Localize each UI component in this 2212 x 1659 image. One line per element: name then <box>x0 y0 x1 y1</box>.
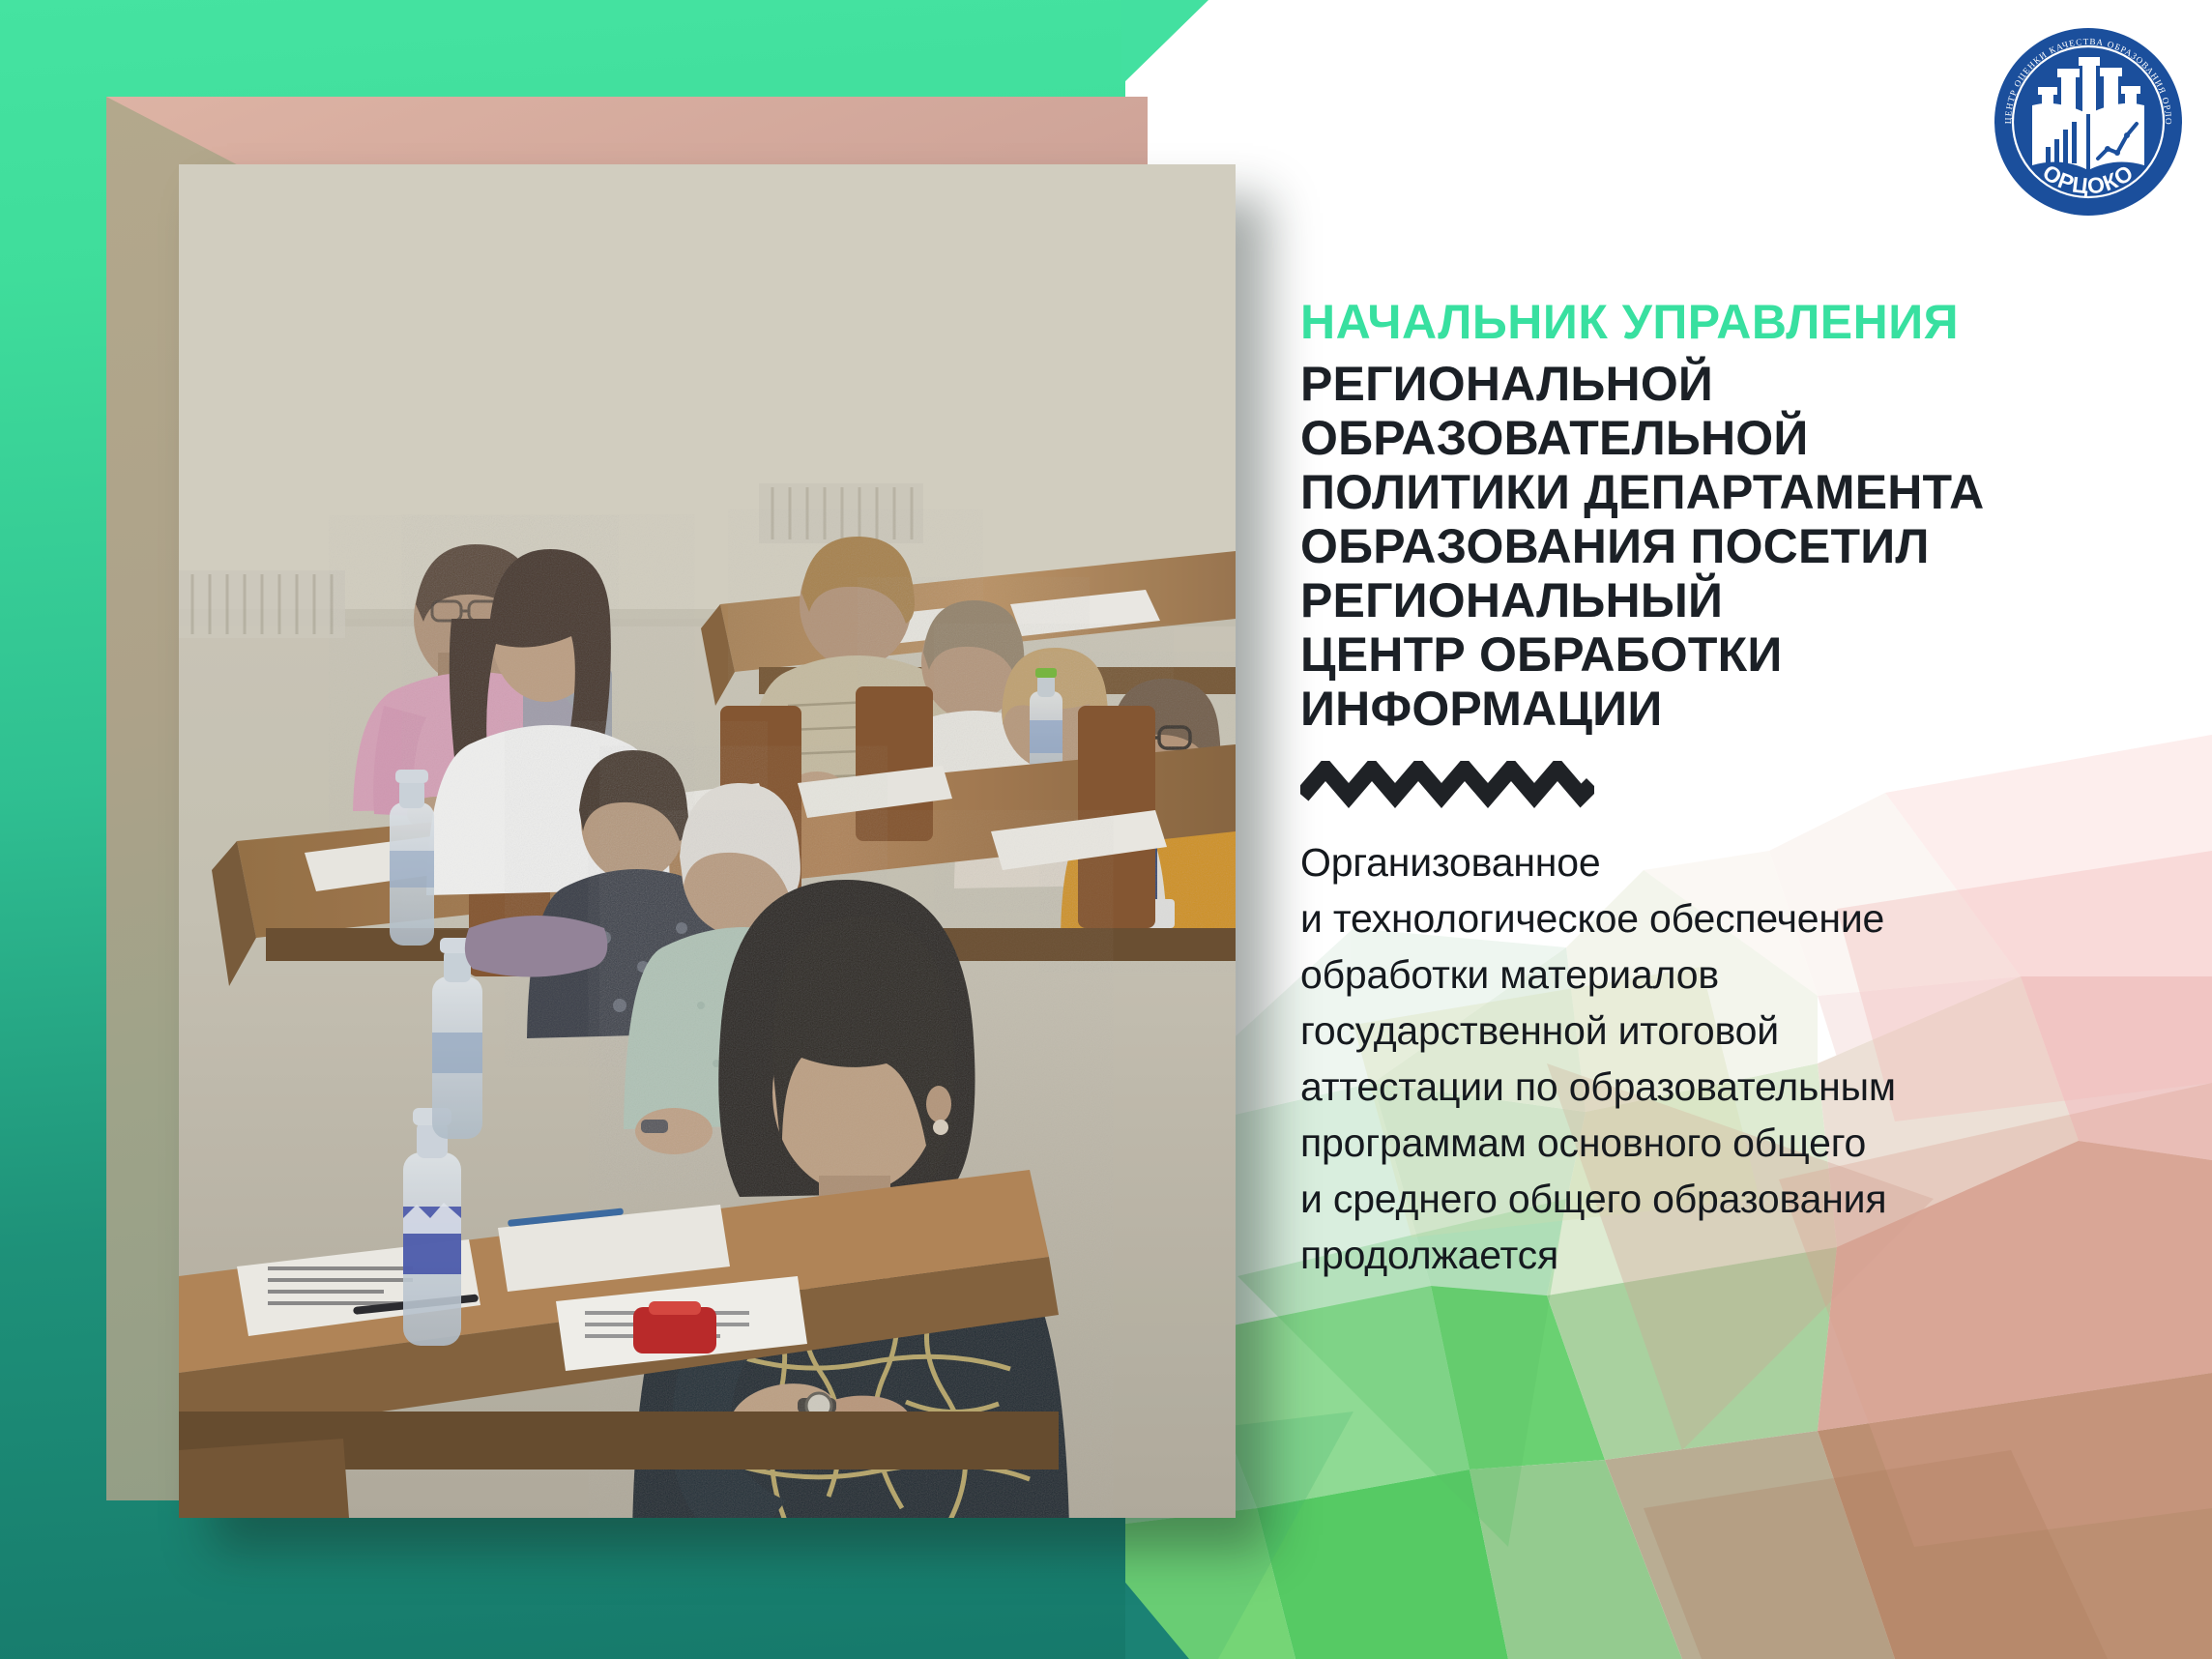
body-paragraph: Организованное и технологическое обеспеч… <box>1300 834 2103 1283</box>
meeting-photo-illustration <box>179 164 1236 1518</box>
headline-line-4: ОБРАЗОВАНИЯ ПОСЕТИЛ <box>1300 519 2103 573</box>
body-line-7: и среднего общего образования <box>1300 1171 2103 1227</box>
orcoko-logo: РЕГИОНАЛЬНЫЙ ЦЕНТР ОЦЕНКИ КАЧЕСТВА ОБРАЗ… <box>1988 21 2189 222</box>
body-line-4: государственной итоговой <box>1300 1003 2103 1059</box>
headline-line-5: РЕГИОНАЛЬНЫЙ <box>1300 573 2103 627</box>
body-line-3: обработки материалов <box>1300 946 2103 1003</box>
slide-canvas: РЕГИОНАЛЬНЫЙ ЦЕНТР ОЦЕНКИ КАЧЕСТВА ОБРАЗ… <box>0 0 2212 1659</box>
headline-line-1: РЕГИОНАЛЬНОЙ <box>1300 357 2103 411</box>
zigzag-divider <box>1300 761 1594 811</box>
body-line-8: продолжается <box>1300 1227 2103 1283</box>
body-line-1: Организованное <box>1300 834 2103 890</box>
page-title: РЕГИОНАЛЬНОЙ ОБРАЗОВАТЕЛЬНОЙ ПОЛИТИКИ ДЕ… <box>1300 357 2103 736</box>
text-column: НАЧАЛЬНИК УПРАВЛЕНИЯ РЕГИОНАЛЬНОЙ ОБРАЗО… <box>1300 295 2103 1283</box>
green-panel-diagonal-corner <box>1121 0 1218 97</box>
body-line-6: программам основного общего <box>1300 1115 2103 1171</box>
headline-line-6: ЦЕНТР ОБРАБОТКИ <box>1300 627 2103 682</box>
headline-line-3: ПОЛИТИКИ ДЕПАРТАМЕНТА <box>1300 465 2103 519</box>
headline-line-7: ИНФОРМАЦИИ <box>1300 682 2103 736</box>
body-line-2: и технологическое обеспечение <box>1300 890 2103 946</box>
headline-line-2: ОБРАЗОВАТЕЛЬНОЙ <box>1300 411 2103 465</box>
headline-kicker: НАЧАЛЬНИК УПРАВЛЕНИЯ <box>1300 295 2103 349</box>
meeting-photo <box>179 164 1236 1518</box>
body-line-5: аттестации по образовательным <box>1300 1059 2103 1115</box>
